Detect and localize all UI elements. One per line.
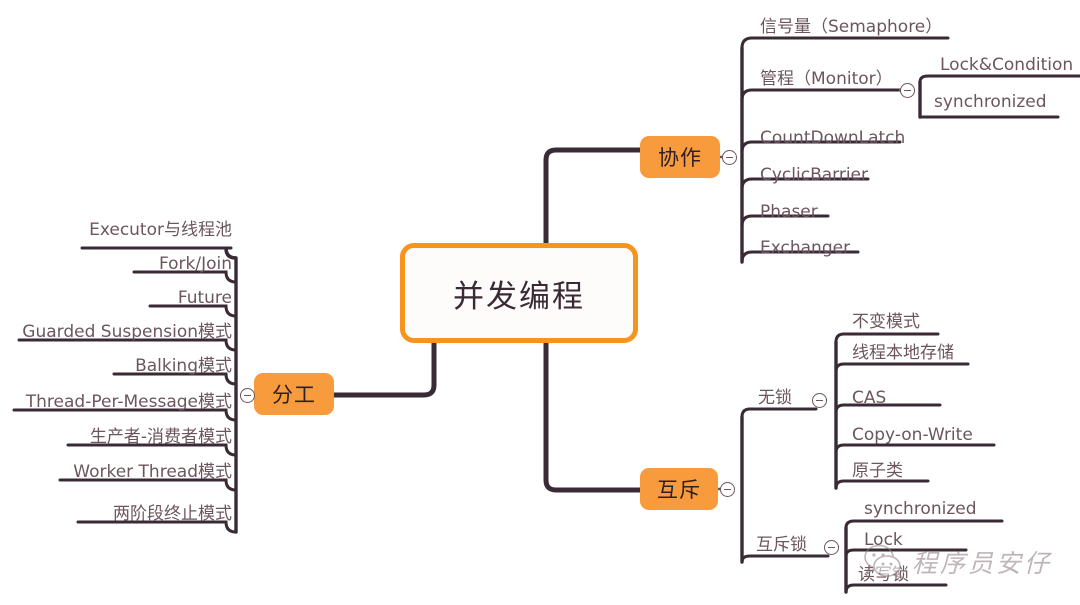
leaf-balking[interactable]: Balking模式	[135, 358, 232, 375]
collapse-toggle-xiezuo[interactable]	[722, 150, 737, 165]
leaf-semaphore[interactable]: 信号量（Semaphore）	[760, 19, 942, 36]
leaf-atomic-classes[interactable]: 原子类	[852, 463, 903, 480]
leaf-two-phase-termination[interactable]: 两阶段终止模式	[113, 506, 232, 523]
leaf-lock-and-condition[interactable]: Lock&Condition	[940, 57, 1073, 74]
leaf-lock-free[interactable]: 无锁	[758, 390, 792, 407]
leaf-synchronized-monitor[interactable]: synchronized	[934, 94, 1047, 111]
branch-node-xiezuo-label: 协作	[658, 142, 702, 172]
collapse-toggle-huchi[interactable]	[720, 482, 735, 497]
watermark: 程序员安仔	[862, 536, 1074, 588]
leaf-copy-on-write[interactable]: Copy-on-Write	[852, 427, 973, 444]
collapse-toggle-huchisuo[interactable]	[824, 540, 839, 555]
root-node[interactable]: 并发编程	[400, 243, 638, 343]
leaf-phaser[interactable]: Phaser	[760, 204, 818, 221]
leaf-exchanger[interactable]: Exchanger	[760, 240, 850, 257]
mindmap-canvas: 并发编程 分工 协作 互斥 Executor与线程池 Fork/Join Fut…	[0, 0, 1080, 605]
collapse-toggle-wusuo[interactable]	[812, 393, 827, 408]
leaf-cas[interactable]: CAS	[852, 390, 886, 407]
branch-node-huchi[interactable]: 互斥	[640, 468, 718, 510]
leaf-immutable-pattern[interactable]: 不变模式	[852, 314, 920, 331]
leaf-future[interactable]: Future	[178, 290, 232, 307]
branch-node-fengong[interactable]: 分工	[254, 373, 334, 415]
leaf-producer-consumer[interactable]: 生产者-消费者模式	[90, 429, 232, 446]
leaf-thread-local-storage[interactable]: 线程本地存储	[852, 345, 954, 362]
leaf-countdownlatch[interactable]: CountDownLatch	[760, 130, 905, 147]
root-node-label: 并发编程	[453, 271, 585, 316]
collapse-toggle-fengong[interactable]	[240, 388, 255, 403]
branch-node-fengong-label: 分工	[272, 379, 316, 409]
branch-node-huchi-label: 互斥	[657, 474, 701, 504]
leaf-executor-thread-pool[interactable]: Executor与线程池	[89, 222, 232, 239]
leaf-monitor[interactable]: 管程（Monitor）	[760, 71, 893, 88]
leaf-guarded-suspension[interactable]: Guarded Suspension模式	[22, 324, 232, 341]
leaf-worker-thread[interactable]: Worker Thread模式	[73, 464, 232, 481]
leaf-mutex-lock[interactable]: 互斥锁	[756, 537, 807, 554]
watermark-text: 程序员安仔	[912, 544, 1052, 580]
branch-node-xiezuo[interactable]: 协作	[640, 136, 720, 178]
collapse-toggle-monitor[interactable]	[900, 83, 915, 98]
wechat-bubble-icon	[862, 543, 908, 581]
leaf-fork-join[interactable]: Fork/Join	[159, 256, 232, 273]
leaf-cyclicbarrier[interactable]: CyclicBarrier	[760, 167, 868, 184]
leaf-thread-per-message[interactable]: Thread-Per-Message模式	[26, 394, 232, 411]
leaf-synchronized-mutex[interactable]: synchronized	[864, 501, 977, 518]
